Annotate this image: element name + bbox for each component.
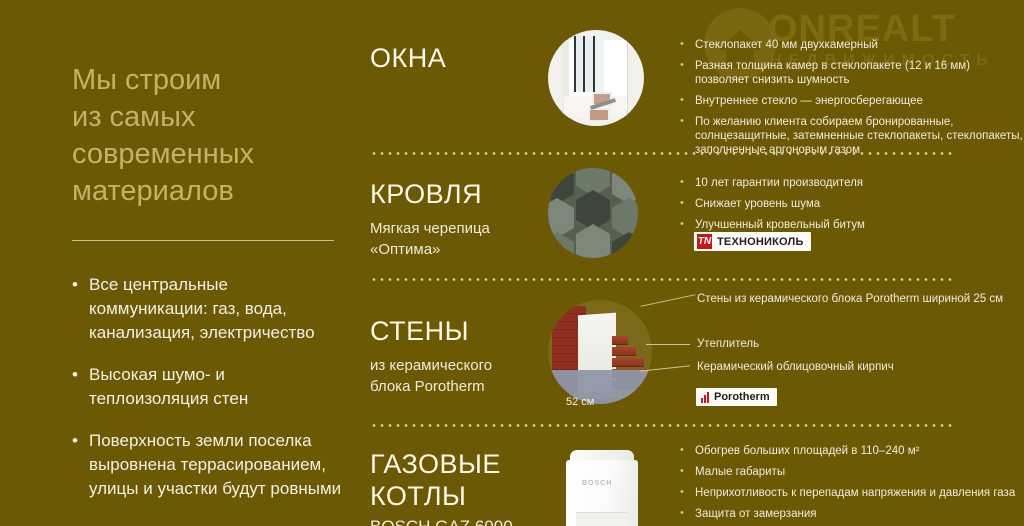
wall-ground-shape xyxy=(548,370,652,404)
technonicol-logo: TN ТЕХНОНИКОЛЬ xyxy=(694,232,811,251)
window-chamber-shape xyxy=(588,108,610,122)
list-item: •Поверхность земли поселка выровнена тер… xyxy=(72,429,342,501)
boilers-bullet-list: •Обогрев больших площадей в 110–240 м² •… xyxy=(678,444,1024,526)
callout-leader-line xyxy=(641,294,696,307)
section-boilers-head: ГАЗОВЫЕ КОТЛЫ BOSCH GAZ 6000 xyxy=(370,448,535,526)
wall-callout-insulation: Утеплитель xyxy=(697,338,759,350)
list-item-text: Защита от замерзания xyxy=(695,508,816,520)
list-item: •Неприхотливость к перепадам напряжения … xyxy=(678,486,1024,500)
roof-bullet-list: •10 лет гарантии производителя •Снижает … xyxy=(678,176,1024,239)
shingle-hex xyxy=(612,174,638,194)
window-glass-shape xyxy=(574,36,604,92)
list-item-text: 10 лет гарантии производителя xyxy=(695,177,863,189)
bullet-icon: • xyxy=(680,485,684,499)
list-item-text: Все центральные коммуникации: газ, вода,… xyxy=(89,275,315,342)
wall-dimension-label: 52 см xyxy=(566,396,594,408)
shingle-photo xyxy=(548,168,638,258)
list-item: •Внутреннее стекло — энергосберегающее xyxy=(678,94,1024,108)
bullet-icon: • xyxy=(72,273,78,297)
porotherm-logo: Porotherm xyxy=(696,388,777,406)
shingle-hex xyxy=(548,242,574,258)
section-divider xyxy=(370,278,953,281)
page-title-line: современных xyxy=(72,136,342,173)
bullet-icon: • xyxy=(680,196,684,210)
list-item: •10 лет гарантии производителя xyxy=(678,176,1024,190)
list-item: •Защита от замерзания xyxy=(678,507,1024,521)
infographic-page: ONREALT НЕДВИЖИМОСТЬ Мы строим из самых … xyxy=(0,0,1024,526)
list-item-text: Внутреннее стекло — энергосберегающее xyxy=(695,95,923,107)
section-subtitle-line: «Оптима» xyxy=(370,239,535,260)
bullet-icon: • xyxy=(680,217,684,231)
shingle-hex xyxy=(576,200,610,220)
section-title: КОТЛЫ xyxy=(370,480,535,512)
list-item: •Обогрев больших площадей в 110–240 м² xyxy=(678,444,1024,458)
section-subtitle: из керамического блока Porotherm xyxy=(370,355,535,397)
page-title-line: материалов xyxy=(72,173,342,210)
bullet-icon: • xyxy=(680,464,684,478)
wall-cutaway-photo xyxy=(548,300,652,404)
shingle-hex xyxy=(576,168,610,186)
bullet-icon: • xyxy=(680,114,684,128)
technonicol-mark-icon: TN xyxy=(697,234,712,249)
page-title: Мы строим из самых современных материало… xyxy=(72,62,342,210)
shingle-hex xyxy=(548,208,574,228)
list-item-text: Высокая шумо- и теплоизоляция стен xyxy=(89,365,248,408)
section-title: ОКНА xyxy=(370,42,535,74)
divider-rule xyxy=(72,240,334,241)
windows-bullet-list: •Стеклопакет 40 мм двухкамерный •Разная … xyxy=(678,38,1024,164)
bosch-logo-icon: BOSCH xyxy=(582,480,612,487)
section-subtitle-line: блока Porotherm xyxy=(370,376,535,397)
bullet-icon: • xyxy=(72,363,78,387)
section-windows-head: ОКНА xyxy=(370,42,535,74)
bullet-icon: • xyxy=(680,37,684,51)
list-item: •Снижает уровень шума xyxy=(678,197,1024,211)
section-walls-head: СТЕНЫ из керамического блока Porotherm xyxy=(370,315,535,397)
callout-leader-line xyxy=(646,344,690,345)
shingle-hex xyxy=(548,174,574,194)
list-item: •Высокая шумо- и теплоизоляция стен xyxy=(72,363,342,411)
shingle-hex xyxy=(576,234,610,254)
left-feature-list: •Все центральные коммуникации: газ, вода… xyxy=(72,273,342,501)
wall-callout-facing-brick: Керамический облицовочный кирпич xyxy=(697,361,894,373)
section-title: КРОВЛЯ xyxy=(370,178,535,210)
window-profile-photo xyxy=(548,30,644,126)
list-item-text: Стеклопакет 40 мм двухкамерный xyxy=(695,39,878,51)
bullet-icon: • xyxy=(680,506,684,520)
list-item: •Разная толщина камер в стеклопакете (12… xyxy=(678,59,1024,87)
list-item-text: Обогрев больших площадей в 110–240 м² xyxy=(695,445,919,457)
boiler-control-panel-shape xyxy=(576,512,628,526)
wall-callout-block: Стены из керамического блока Porotherm ш… xyxy=(697,293,1003,305)
section-subtitle-line: Мягкая черепица xyxy=(370,218,535,239)
list-item-text: Разная толщина камер в стеклопакете (12 … xyxy=(695,60,970,86)
list-item: •Малые габариты xyxy=(678,465,1024,479)
technonicol-logo-text: ТЕХНОНИКОЛЬ xyxy=(717,236,804,248)
list-item-text: Улучшенный кровельный битум xyxy=(695,219,865,231)
gas-boiler-photo: BOSCH xyxy=(566,450,638,526)
porotherm-logo-text: Porotherm xyxy=(714,391,770,403)
list-item-text: Снижает уровень шума xyxy=(695,198,820,210)
list-item-text: По желанию клиента собираем бронированны… xyxy=(695,116,1023,156)
section-subtitle-line: из керамического xyxy=(370,355,535,376)
list-item: •Стеклопакет 40 мм двухкамерный xyxy=(678,38,1024,52)
section-divider xyxy=(370,424,953,427)
section-divider xyxy=(370,152,953,155)
shingle-hex xyxy=(612,208,638,228)
bullet-icon: • xyxy=(680,58,684,72)
bullet-icon: • xyxy=(72,429,78,453)
section-subtitle: BOSCH GAZ 6000 xyxy=(370,516,535,526)
left-column: Мы строим из самых современных материало… xyxy=(72,62,342,519)
list-item-text: Малые габариты xyxy=(695,466,785,478)
section-subtitle: Мягкая черепица «Оптима» xyxy=(370,218,535,260)
bullet-icon: • xyxy=(680,93,684,107)
shingle-hex xyxy=(612,242,638,258)
list-item: •Все центральные коммуникации: газ, вода… xyxy=(72,273,342,345)
list-item-text: Поверхность земли поселка выровнена терр… xyxy=(89,431,341,498)
section-title: СТЕНЫ xyxy=(370,315,535,347)
bullet-icon: • xyxy=(680,175,684,189)
page-title-line: Мы строим xyxy=(72,62,342,99)
section-roof-head: КРОВЛЯ Мягкая черепица «Оптима» xyxy=(370,178,535,260)
section-title: ГАЗОВЫЕ xyxy=(370,448,535,480)
bullet-icon: • xyxy=(680,443,684,457)
page-title-line: из самых xyxy=(72,99,342,136)
porotherm-mark-icon xyxy=(701,392,710,403)
list-item-text: Неприхотливость к перепадам напряжения и… xyxy=(695,487,1015,499)
list-item: •Улучшенный кровельный битум xyxy=(678,218,1024,232)
list-item: •По желанию клиента собираем бронированн… xyxy=(678,115,1024,157)
